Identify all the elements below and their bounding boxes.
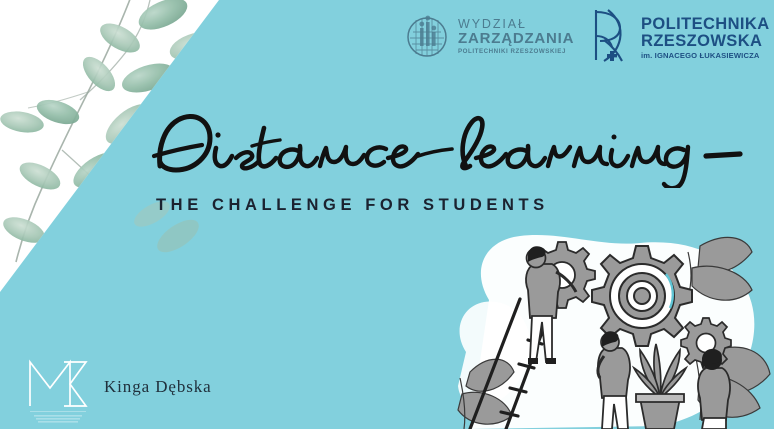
monogram-value: MΣ	[24, 353, 25, 354]
presentation-slide: WYDZIAŁ ZARZĄDZANIA POLITECHNIKI RZESZOW…	[0, 0, 774, 429]
author-monogram-logo: MΣ	[24, 348, 98, 424]
large-gear	[592, 246, 692, 346]
monogram-caption-lines	[30, 411, 86, 423]
gears-and-people-illustration	[0, 0, 774, 429]
author-name: Kinga Dębska	[104, 377, 212, 397]
